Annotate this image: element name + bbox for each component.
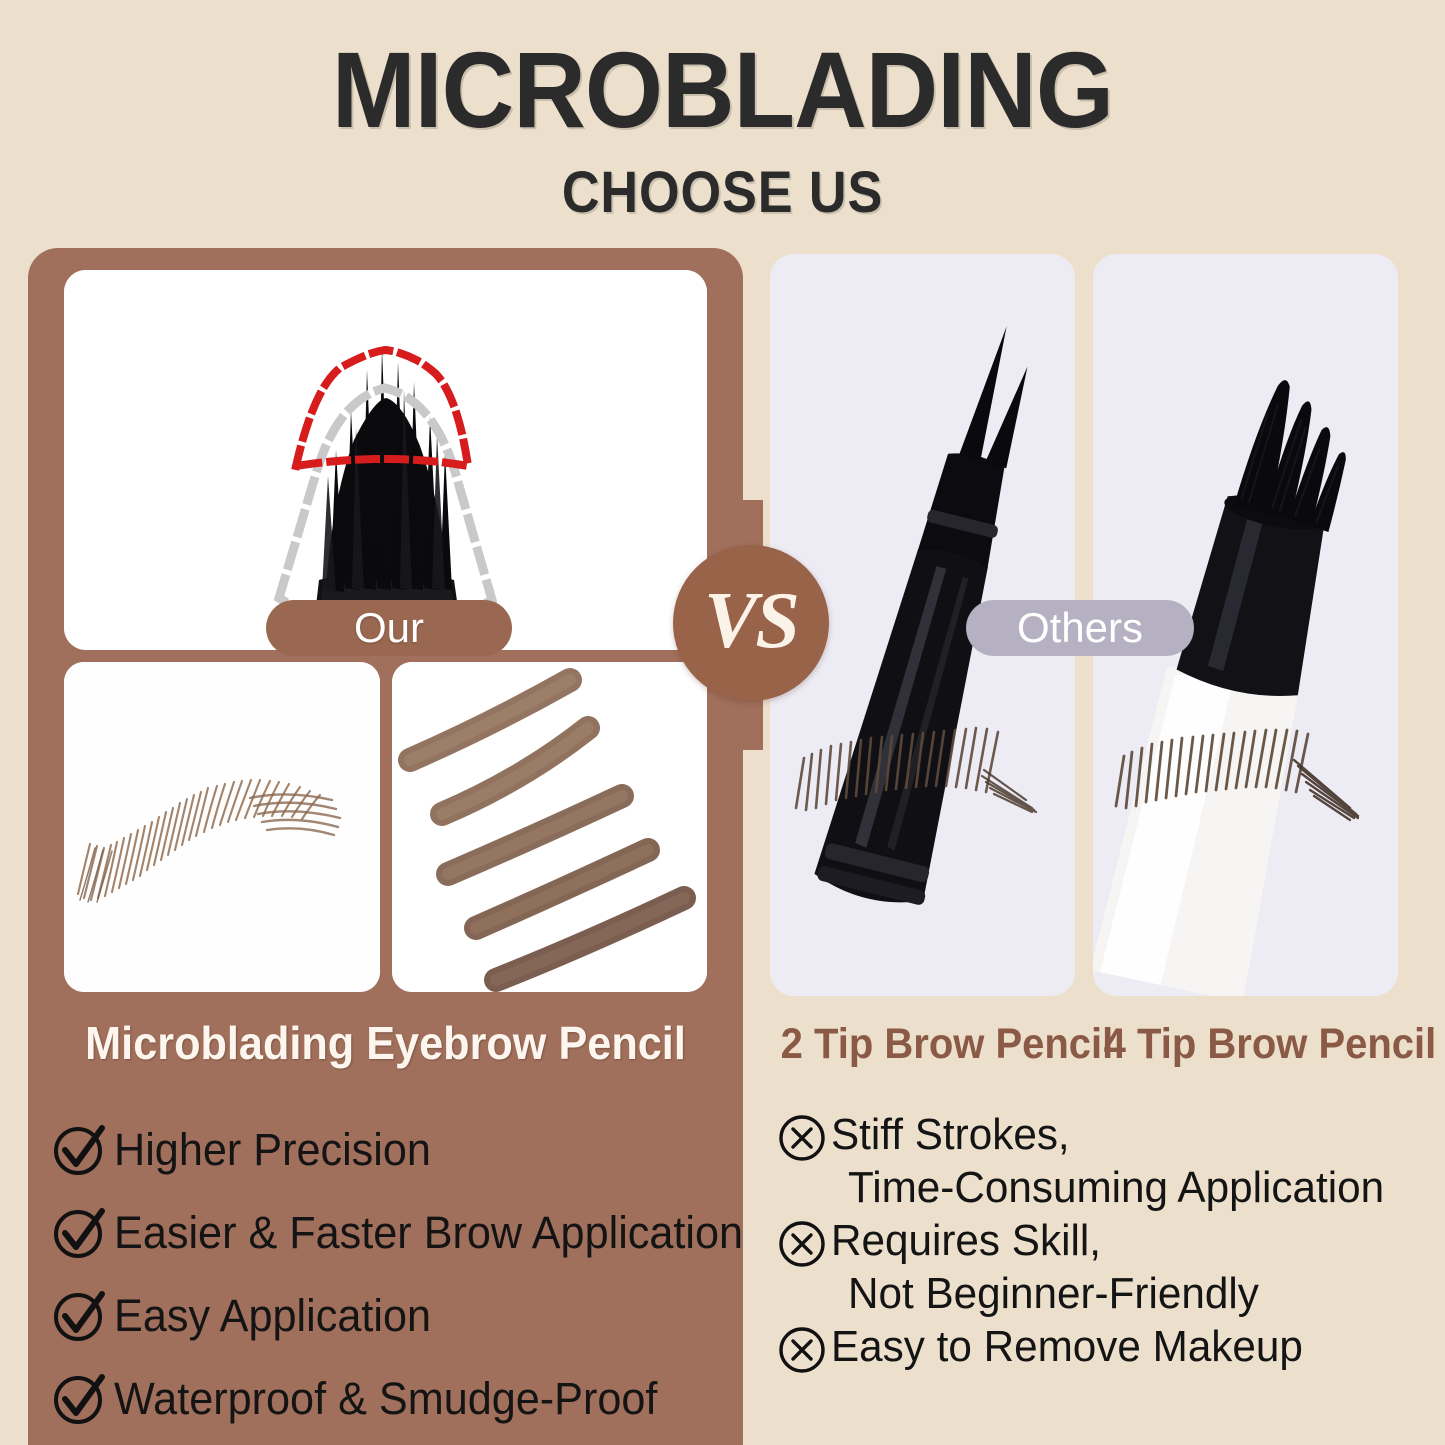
page-title: MICROBLADING xyxy=(51,26,1395,153)
header: MICROBLADING CHOOSE US xyxy=(0,0,1445,226)
brush-tip-illustration xyxy=(64,270,707,650)
brow-strokes-illustration xyxy=(64,662,380,992)
swatch-strokes-illustration xyxy=(392,662,707,992)
our-product-panel: Microblading Eyebrow Pencil Higher Preci… xyxy=(28,248,743,1445)
our-photo-color-swatches xyxy=(392,662,707,992)
vs-badge-text: VS xyxy=(704,576,798,667)
our-product-name: Microblading Eyebrow Pencil xyxy=(49,1016,721,1070)
pro-label: Easy Application xyxy=(114,1290,431,1342)
page-subtitle: CHOOSE US xyxy=(72,159,1373,226)
our-photo-brow-result xyxy=(64,662,380,992)
pro-label: Easier & Faster Brow Application xyxy=(114,1207,743,1259)
check-circle-icon xyxy=(52,1288,108,1344)
our-photo-microblading-brush-tip xyxy=(64,270,707,650)
x-circle-icon xyxy=(778,1220,826,1268)
pro-item: Waterproof & Smudge-Proof xyxy=(52,1357,752,1440)
check-circle-icon xyxy=(52,1371,108,1427)
con-label-line1: Easy to Remove Makeup xyxy=(831,1322,1303,1371)
check-circle-icon xyxy=(52,1205,108,1261)
con-label-line2: Not Beginner-Friendly xyxy=(848,1268,1395,1320)
con-item: Easy to Remove Makeup xyxy=(778,1322,1418,1374)
pro-label: Waterproof & Smudge-Proof xyxy=(114,1373,657,1425)
con-item: Stiff Strokes, Time-Consuming Applicatio… xyxy=(778,1110,1418,1214)
pro-item: Easy Application xyxy=(52,1274,752,1357)
pro-item: Easier & Faster Brow Application xyxy=(52,1191,752,1274)
pro-label: Higher Precision xyxy=(114,1124,431,1176)
con-label-line1: Requires Skill, xyxy=(831,1216,1101,1265)
other-product-name-two-tip: 2 Tip Brow Pencil xyxy=(781,1020,1065,1069)
others-pill-text: Others xyxy=(1017,604,1143,652)
vs-badge: VS xyxy=(673,545,829,701)
con-item: Requires Skill, Not Beginner-Friendly xyxy=(778,1216,1418,1320)
other-product-name-four-tip: 4 Tip Brow Pencil xyxy=(1104,1020,1388,1069)
check-circle-icon xyxy=(52,1122,108,1178)
x-circle-icon xyxy=(778,1326,826,1374)
cons-list: Stiff Strokes, Time-Consuming Applicatio… xyxy=(778,1110,1418,1376)
pro-item: Higher Precision xyxy=(52,1108,752,1191)
our-pill-text: Our xyxy=(354,604,424,652)
others-pill-label: Others xyxy=(966,600,1194,656)
con-label-line1: Stiff Strokes, xyxy=(831,1110,1070,1159)
con-label-line2: Time-Consuming Application xyxy=(848,1162,1395,1214)
x-circle-icon xyxy=(778,1114,826,1162)
pros-list: Higher Precision Easier & Faster Brow Ap… xyxy=(52,1108,752,1440)
our-pill-label: Our xyxy=(266,600,512,656)
